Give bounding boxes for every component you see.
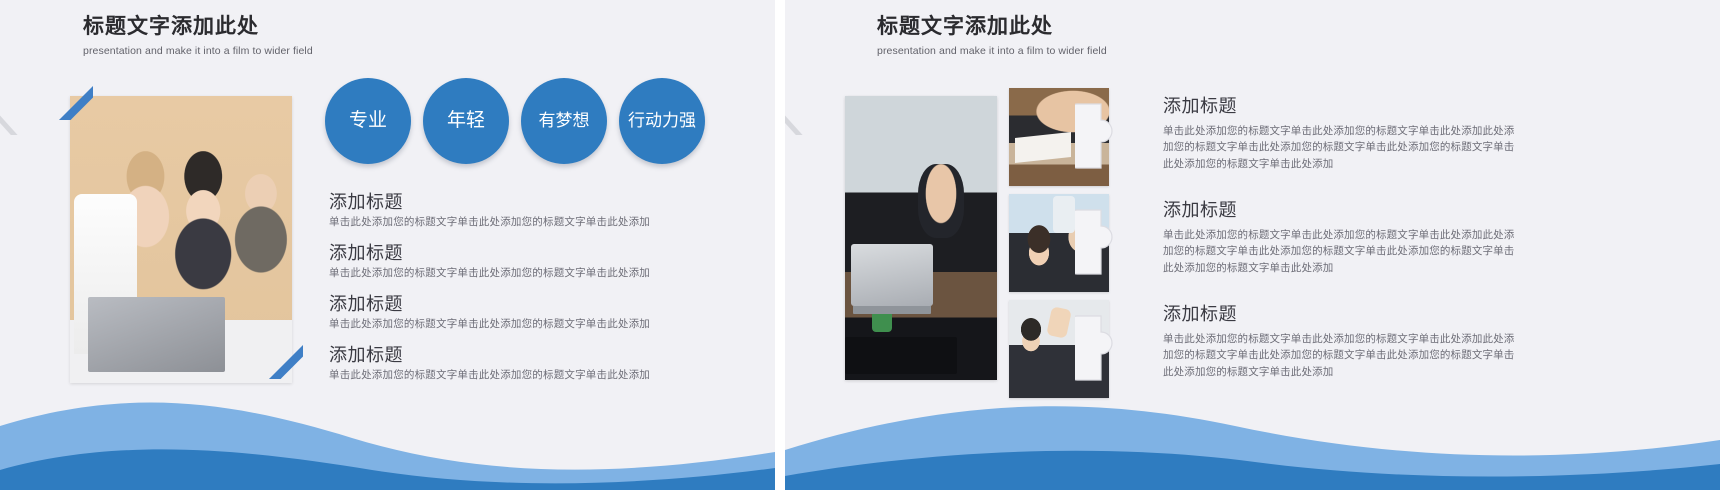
list-item: 添加标题 单击此处添加您的标题文字单击此处添加您的标题文字单击此处添加 <box>329 342 699 384</box>
slide-right: 标题文字添加此处 presentation and make it into a… <box>785 0 1720 490</box>
right-feature-photo <box>845 96 997 380</box>
block-body: 单击此处添加您的标题文字单击此处添加您的标题文字单击此处添加此处添加您的标题文字… <box>1163 331 1523 380</box>
list-item-body: 单击此处添加您的标题文字单击此处添加您的标题文字单击此处添加 <box>329 368 699 384</box>
bottom-wave-decoration-left <box>0 380 775 490</box>
keyword-circle-2-label: 年轻 <box>447 111 485 132</box>
block-body: 单击此处添加您的标题文字单击此处添加您的标题文字单击此处添加此处添加您的标题文字… <box>1163 123 1523 172</box>
slide-left: 标题文字添加此处 presentation and make it into a… <box>0 0 775 490</box>
puzzle-connector-icon-1 <box>1075 94 1139 180</box>
list-item-body: 单击此处添加您的标题文字单击此处添加您的标题文字单击此处添加 <box>329 317 699 333</box>
keyword-circle-3-label: 有梦想 <box>539 112 590 131</box>
thumbnail-row-1 <box>1009 88 1109 186</box>
left-feature-photo <box>70 96 292 383</box>
list-item-title: 添加标题 <box>329 189 699 215</box>
list-item: 添加标题 单击此处添加您的标题文字单击此处添加您的标题文字单击此处添加 <box>329 240 699 282</box>
list-item-title: 添加标题 <box>329 291 699 317</box>
block-title: 添加标题 <box>1163 92 1523 118</box>
page-title: 标题文字添加此处 <box>83 14 313 40</box>
keyword-circle-3[interactable]: 有梦想 <box>521 78 607 164</box>
keyword-circle-2[interactable]: 年轻 <box>423 78 509 164</box>
keyword-circle-4[interactable]: 行动 力强 <box>619 78 705 164</box>
puzzle-connector-icon-3 <box>1075 306 1139 392</box>
slide-right-header: 标题文字添加此处 presentation and make it into a… <box>877 14 1107 57</box>
thumbnail-column <box>1009 88 1109 406</box>
block-title: 添加标题 <box>1163 196 1523 222</box>
list-item: 添加标题 单击此处添加您的标题文字单击此处添加您的标题文字单击此处添加 <box>329 189 699 231</box>
photo-figure-accent <box>74 194 136 355</box>
block-body: 单击此处添加您的标题文字单击此处添加您的标题文字单击此处添加此处添加您的标题文字… <box>1163 227 1523 276</box>
office-developer-image <box>845 96 997 380</box>
page-title: 标题文字添加此处 <box>877 14 1107 40</box>
thumbnail-row-3 <box>1009 300 1109 398</box>
slide-divider <box>775 0 785 490</box>
right-text-block-3: 添加标题 单击此处添加您的标题文字单击此处添加您的标题文字单击此处添加此处添加您… <box>1163 300 1523 380</box>
desk-mat-detail <box>845 337 957 374</box>
keyword-circle-4-label-line1: 行动 <box>628 112 662 131</box>
slide-deck-canvas: 标题文字添加此处 presentation and make it into a… <box>0 0 1720 490</box>
list-item-body: 单击此处添加您的标题文字单击此处添加您的标题文字单击此处添加 <box>329 266 699 282</box>
list-item-title: 添加标题 <box>329 240 699 266</box>
list-item: 添加标题 单击此处添加您的标题文字单击此处添加您的标题文字单击此处添加 <box>329 291 699 333</box>
thumbnail-row-2 <box>1009 194 1109 292</box>
keyword-circle-1[interactable]: 专业 <box>325 78 411 164</box>
mug-detail <box>872 306 892 332</box>
keyword-circle-4-label-line2: 力强 <box>662 112 696 131</box>
bottom-wave-decoration-right <box>785 380 1720 490</box>
right-text-block-1: 添加标题 单击此处添加您的标题文字单击此处添加您的标题文字单击此处添加此处添加您… <box>1163 92 1523 172</box>
team-meeting-image <box>70 96 292 383</box>
page-subtitle: presentation and make it into a film to … <box>83 45 313 57</box>
block-title: 添加标题 <box>1163 300 1523 326</box>
list-item-title: 添加标题 <box>329 342 699 368</box>
slide-left-header: 标题文字添加此处 presentation and make it into a… <box>83 14 313 57</box>
keyword-circle-1-label: 专业 <box>349 111 387 132</box>
right-text-block-2: 添加标题 单击此处添加您的标题文字单击此处添加您的标题文字单击此处添加此处添加您… <box>1163 196 1523 276</box>
list-item-body: 单击此处添加您的标题文字单击此处添加您的标题文字单击此处添加 <box>329 215 699 231</box>
keyword-circle-group: 专业 年轻 有梦想 行动 力强 <box>325 78 705 164</box>
page-subtitle: presentation and make it into a film to … <box>877 45 1107 57</box>
left-text-list: 添加标题 单击此处添加您的标题文字单击此处添加您的标题文字单击此处添加 添加标题… <box>329 189 699 392</box>
puzzle-connector-icon-2 <box>1075 200 1139 286</box>
